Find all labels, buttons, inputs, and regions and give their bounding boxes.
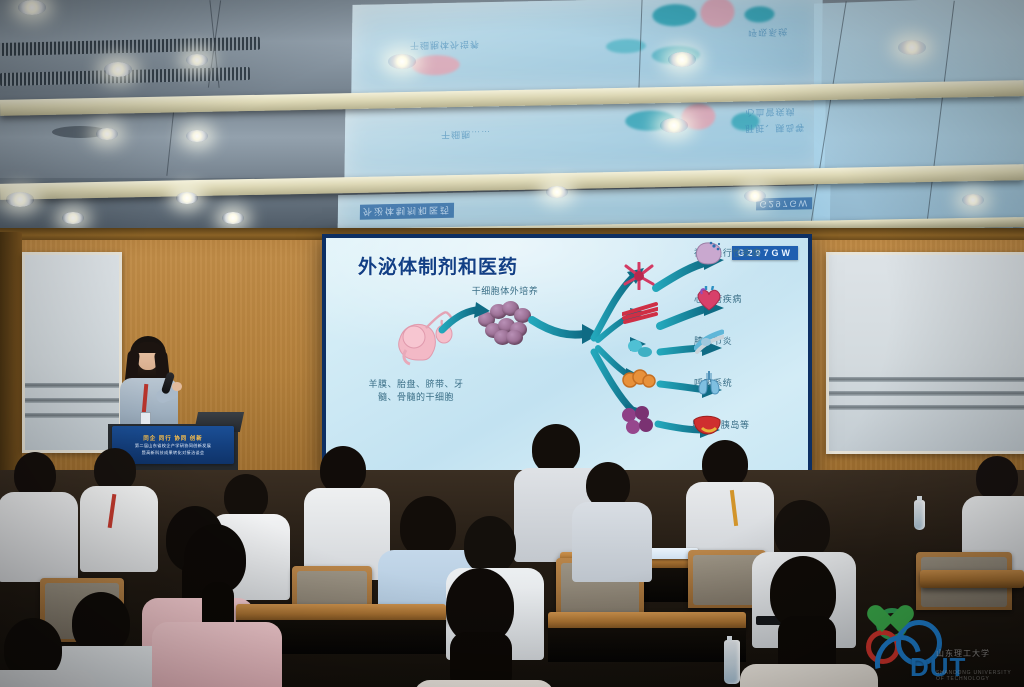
ceiling-downlight <box>186 130 208 142</box>
logo-org-name: 山东理工大学 <box>936 648 1022 660</box>
organ-row: 膝关节炎 <box>694 334 732 347</box>
heart-icon <box>874 606 908 636</box>
ceiling-downlight <box>546 186 568 198</box>
ceiling-downlight <box>18 0 46 15</box>
liver-icon <box>692 412 722 438</box>
ceiling-downlight <box>898 40 926 55</box>
ceiling-downlight <box>176 192 198 204</box>
ceiling-screen-reflection-top: 干细胞体外培养 呼吸系统 <box>351 0 822 95</box>
ceiling-downlight <box>6 192 34 207</box>
ceiling-reflection-right <box>814 0 1024 236</box>
ceiling-downlight <box>668 52 696 67</box>
ceiling-downlight <box>186 54 208 66</box>
ceiling-downlight <box>222 212 244 224</box>
logo-org-subtitle: SHANDONG UNIVERSITY OF TECHNOLOGY <box>936 670 1022 682</box>
ceiling-downlight <box>660 118 688 133</box>
ceiling-downlight <box>388 54 416 69</box>
ceiling-downlight <box>744 190 766 202</box>
banner-subline-1: 第二届山东省校企产学研协同创新发展 <box>135 443 211 449</box>
water-bottle <box>914 500 925 530</box>
brain-icon <box>694 240 724 266</box>
knee-joint-icon <box>694 328 724 354</box>
lungs-icon <box>694 370 724 396</box>
presenter <box>116 336 180 436</box>
neuron-cell-icon <box>622 262 656 290</box>
organ-row: 心血管疾病 <box>694 292 742 305</box>
banner-subline-2: 暨高新科技成果转化对接洽谈会 <box>142 450 205 456</box>
hepatocyte-cell-icon <box>620 406 654 434</box>
watermark-logo: DUT 山东理工大学 SHANDONG UNIVERSITY OF TECHNO… <box>862 604 1022 684</box>
water-bottle <box>724 640 740 684</box>
organ-row: 神经退行性疾病 <box>694 246 761 259</box>
organ-row: 呼吸系统 <box>694 376 732 389</box>
wall-display-panel-right <box>826 252 1024 454</box>
banner-headline: 同企 同行 协同 创新 <box>143 434 203 442</box>
ceiling-downlight <box>62 212 84 224</box>
organ-row: 肝脏、胰岛等 <box>692 418 750 431</box>
ceiling-downlight <box>104 62 132 77</box>
ceiling-downlight <box>96 128 118 140</box>
desk-shadow <box>548 628 746 662</box>
wall-display-panel-left <box>22 252 122 453</box>
ceiling-downlight <box>962 194 984 206</box>
presenter-hand <box>172 382 182 391</box>
conference-hall-photo: 干细胞体外培养 呼吸系统 干细胞…… 心血管疾病 肝脏、胰岛等 外泌体制剂和医药… <box>0 0 1024 687</box>
alveoli-cell-icon <box>622 368 656 390</box>
desk-row <box>920 570 1024 588</box>
ceiling: 干细胞体外培养 呼吸系统 干细胞…… 心血管疾病 肝脏、胰岛等 外泌体制剂和医药… <box>0 0 1024 232</box>
muscle-fiber-icon <box>622 300 658 324</box>
heart-icon <box>694 286 724 312</box>
cartilage-cell-icon <box>626 338 654 358</box>
